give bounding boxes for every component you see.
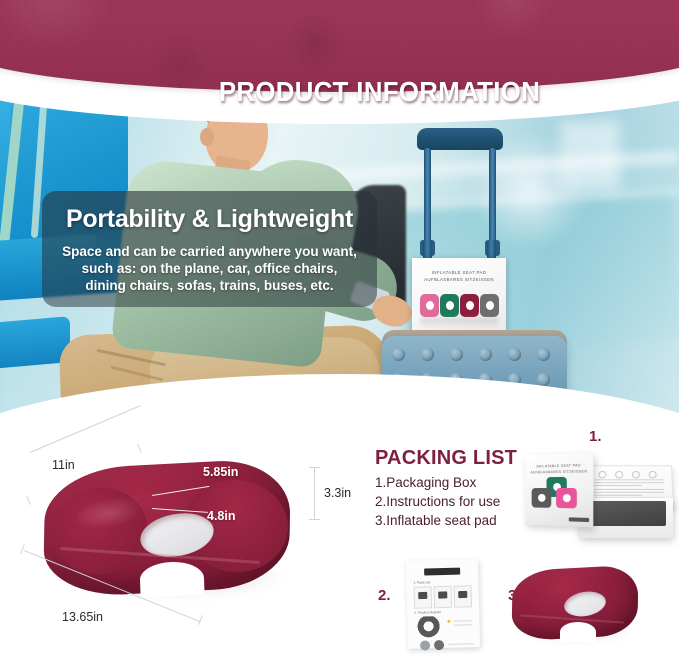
packaging-box-cushion-row (532, 484, 586, 509)
lid-icon-row (598, 471, 661, 478)
suitcase-dimple (450, 348, 463, 361)
suitcase-handle-stem-left (424, 148, 431, 248)
feature-description: Space and can be carried anywhere you wa… (42, 243, 377, 294)
lid-text-line (594, 482, 664, 483)
leaflet-swatch-2 (434, 640, 444, 650)
packing-list-item-1: 1.Packaging Box (375, 475, 476, 490)
cushion-swatch (480, 294, 499, 317)
dim-label-length: 13.65in (62, 610, 103, 624)
cushion-front-notch (139, 561, 204, 597)
instruction-leaflet: 1. Parts List 2. Product diagram (406, 559, 480, 649)
lid-icon (649, 471, 657, 478)
packing-list-title: PACKING LIST (375, 447, 517, 470)
suitcase-dimple (508, 348, 521, 361)
packaging-box-illustration: INFLATABLE SEAT PAD AUFBLASBARES SITZKIS… (523, 450, 673, 555)
suitcase-dimple (537, 373, 550, 386)
retail-box-cushion-row (420, 294, 498, 320)
leaflet-text-line-1 (453, 620, 472, 621)
lower-section: 11in 13.65in 3.3in 5.85in 4.8in PACKING … (0, 420, 679, 668)
packaging-box-badge (569, 517, 589, 522)
leaflet-icon-box-2 (434, 586, 453, 608)
suitcase-dimple (421, 348, 434, 361)
packing-list-item-3: 3.Inflatable seat pad (375, 513, 497, 528)
cushion-swatch (460, 294, 479, 317)
cushion-swatch (532, 488, 552, 508)
lid-icon (615, 471, 623, 478)
leaflet-icon-box-3 (454, 585, 473, 607)
dim-line-height (314, 467, 315, 520)
dim-cap-height-bottom (309, 519, 320, 520)
page-title: PRODUCT INFORMATION (30, 76, 679, 108)
suitcase-handle-stem-right (489, 148, 496, 248)
leaflet-section-1: 1. Parts List (413, 580, 430, 584)
suitcase-dimple (392, 348, 405, 361)
suitcase-dimple (537, 348, 550, 361)
feature-title: Portability & Lightweight (42, 205, 377, 234)
closed-packaging-box: INFLATABLE SEAT PAD AUFBLASBARES SITZKIS… (525, 453, 593, 528)
leaflet-bullet-marker (447, 620, 450, 623)
man-ear (200, 128, 214, 146)
small-cushion-notch (560, 622, 596, 642)
lid-icon (598, 471, 606, 478)
leaflet-text-line-2 (454, 624, 473, 625)
cushion-swatch (440, 294, 459, 317)
leaflet-swatch-1 (420, 640, 430, 650)
leaflet-icon-box-1 (414, 586, 433, 608)
dim-cap-height-top (309, 467, 320, 468)
retail-box-title: INFLATABLE SEAT PAD AUFBLASBARES SITZKIS… (412, 269, 506, 283)
lid-icon (632, 471, 640, 478)
leaflet-text-line-3 (448, 643, 474, 645)
cushion-dimension-diagram (44, 458, 294, 608)
dim-cap-length-end (198, 615, 203, 625)
step-label-1: 1. (589, 428, 602, 445)
leaflet-section-2: 2. Product diagram (414, 610, 441, 615)
lid-text-line (594, 485, 642, 486)
dim-cap-length-start (20, 544, 25, 554)
leaflet-icon-boxes (414, 585, 473, 609)
feature-overlay-card: Portability & Lightweight Space and can … (42, 191, 377, 307)
lid-text-line (594, 492, 664, 493)
feature-line-2: such as: on the plane, car, office chair… (42, 260, 377, 277)
dim-label-hole-outer: 5.85in (203, 465, 238, 479)
dim-label-height: 3.3in (324, 486, 351, 500)
dim-label-width-top: 11in (52, 458, 75, 472)
retail-box-reflection (420, 318, 498, 328)
step-label-2: 2. (378, 587, 391, 604)
lid-text-line (594, 489, 664, 490)
suitcase-handle-bar (417, 128, 503, 150)
feature-line-1: Space and can be carried anywhere you wa… (42, 243, 377, 260)
leaflet-header-bar (424, 568, 460, 576)
cushion-swatch (556, 488, 577, 508)
retail-product-box: INFLATABLE SEAT PAD AUFBLASBARES SITZKIS… (412, 258, 506, 340)
lid-text-line (594, 495, 642, 496)
lid-text-line (594, 479, 663, 480)
hero-section: INFLATABLE SEAT PAD AUFBLASBARES SITZKIS… (0, 0, 679, 420)
feature-line-3: dining chairs, sofas, trains, buses, etc… (42, 277, 377, 294)
packing-list-item-2: 2.Instructions for use (375, 494, 500, 509)
cushion-swatch (420, 294, 439, 317)
folded-cushion-insert (586, 501, 666, 526)
product-cushion-small (512, 566, 640, 646)
packaging-box-title: INFLATABLE SEAT PAD AUFBLASBARES SITZKIS… (525, 462, 593, 476)
leaflet-product-diagram (416, 616, 441, 639)
dim-cap-width-top-end (137, 444, 141, 453)
dim-cap-width-top-start (26, 496, 30, 505)
dim-label-hole-inner: 4.8in (207, 509, 236, 523)
suitcase-dimple (479, 348, 492, 361)
